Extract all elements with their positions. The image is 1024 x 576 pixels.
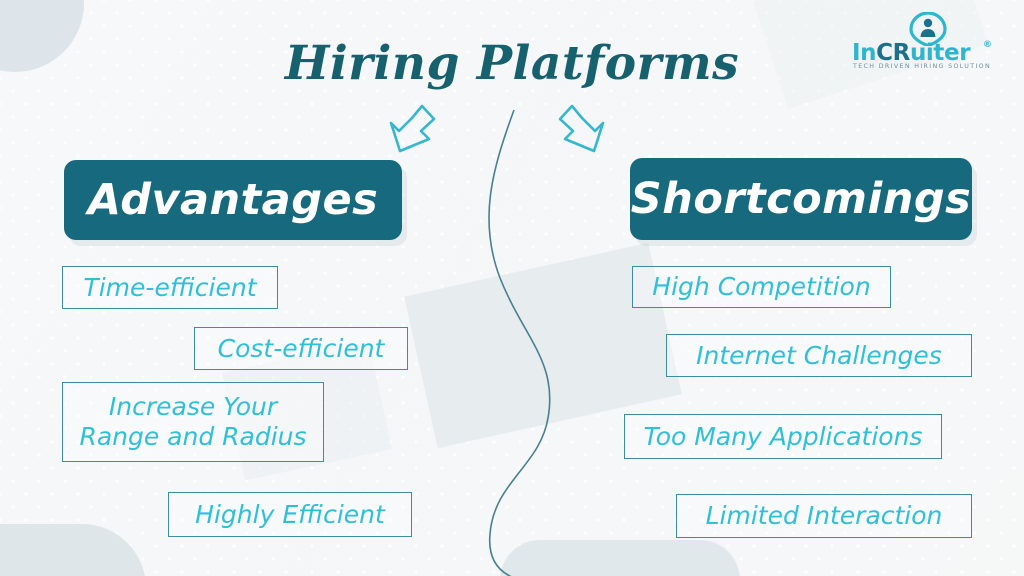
infographic-canvas: Hiring Platforms InCRuiter ® TECH DRIVEN… [0, 0, 1024, 576]
brand-tagline: TECH DRIVEN HIRING SOLUTION [853, 63, 1003, 70]
shortcoming-item-3[interactable]: Too Many Applications [624, 414, 942, 459]
shortcoming-item-1[interactable]: High Competition [632, 266, 891, 308]
column-header-shortcomings: Shortcomings [630, 158, 972, 240]
advantage-item-4[interactable]: Highly Efficient [168, 492, 412, 537]
shortcoming-item-4[interactable]: Limited Interaction [676, 494, 972, 538]
wavy-divider-line [452, 110, 582, 576]
brand-logo: InCRuiter ® TECH DRIVEN HIRING SOLUTION [852, 12, 1004, 74]
arrow-down-left-icon [388, 104, 436, 156]
registered-mark: ® [983, 40, 992, 50]
advantage-item-2[interactable]: Cost-efficient [194, 327, 408, 370]
advantage-item-3[interactable]: Increase Your Range and Radius [62, 382, 324, 462]
arrow-down-right-icon [558, 104, 606, 156]
column-header-advantages: Advantages [64, 160, 402, 240]
brand-wordmark: InCRuiter [852, 42, 1004, 65]
shortcoming-item-2[interactable]: Internet Challenges [666, 334, 972, 377]
advantage-item-1[interactable]: Time-efficient [62, 266, 278, 309]
